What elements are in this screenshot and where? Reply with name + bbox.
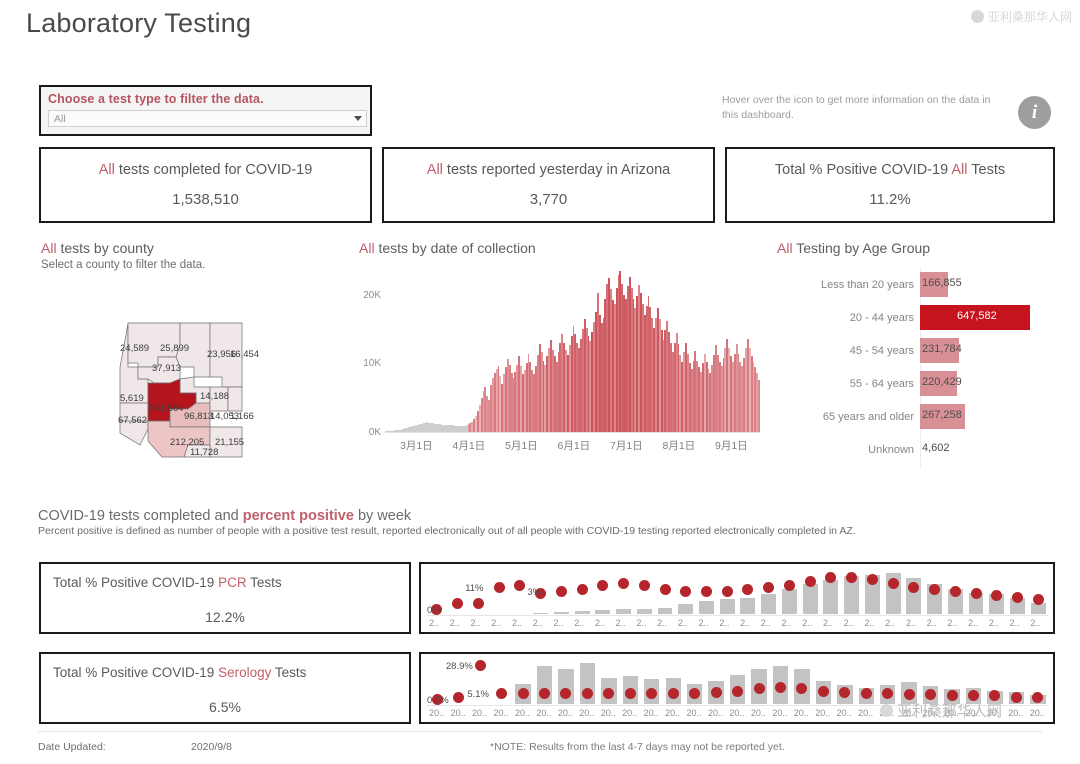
date-title-accent: All bbox=[359, 240, 375, 256]
weekly-percent-dot bbox=[742, 584, 753, 595]
weekly-percent-dot bbox=[556, 586, 567, 597]
weekly-column[interactable] bbox=[494, 654, 509, 704]
age-title-accent: All bbox=[777, 240, 793, 256]
kpi-card-total-tests: All tests completed for COVID-19 1,538,5… bbox=[39, 147, 372, 223]
weekly-dot-label: 28.9% bbox=[446, 661, 473, 672]
age-group-value: 166,855 bbox=[922, 277, 962, 289]
weekly-xtick: 20.. bbox=[1008, 708, 1023, 718]
weekly-column[interactable] bbox=[595, 564, 610, 614]
age-group-bar-wrap: 267,258 bbox=[920, 400, 1067, 433]
weekly-column[interactable] bbox=[859, 654, 874, 704]
weekly-xtick: 2.. bbox=[740, 618, 750, 628]
weekly-column[interactable] bbox=[740, 564, 755, 614]
weekly-column[interactable] bbox=[989, 564, 1004, 614]
weekly-percent-dot bbox=[597, 580, 608, 591]
weekly-percent-dot bbox=[861, 688, 872, 699]
weekly-bar bbox=[678, 604, 693, 614]
date-chart-xtick: 3月1日 bbox=[400, 438, 433, 453]
kpi-rest: tests completed for COVID-19 bbox=[115, 162, 312, 178]
kpi-label: Total % Positive COVID-19 All Tests bbox=[775, 162, 1005, 178]
age-group-value: 4,602 bbox=[922, 442, 950, 454]
pcr-weekly-x-axis: 2..2..2..2..2..2..2..2..2..2..2..2..2..2… bbox=[427, 615, 1049, 631]
tests-by-date-chart: 0K10K20K 3月1日4月1日5月1日6月1日7月1日8月1日9月1日 bbox=[345, 268, 760, 458]
weekly-percent-dot bbox=[929, 584, 940, 595]
weekly-bar bbox=[533, 613, 548, 614]
watermark-bottom: 亚利桑那华人网 bbox=[880, 700, 1002, 721]
kpi-value: 11.2% bbox=[869, 191, 910, 208]
weekly-percent-dot bbox=[660, 584, 671, 595]
weekly-xtick: 20.. bbox=[708, 708, 723, 718]
pcr-weekly-plot: 0%11%3% bbox=[427, 566, 1049, 614]
weekly-column[interactable] bbox=[927, 564, 942, 614]
weekly-column[interactable] bbox=[948, 564, 963, 614]
weekly-column[interactable] bbox=[906, 564, 921, 614]
weekly-bar bbox=[740, 598, 755, 614]
weekly-column[interactable] bbox=[773, 654, 788, 704]
weekly-xtick: 20.. bbox=[515, 708, 530, 718]
weekly-percent-dot bbox=[904, 689, 915, 700]
age-group-label: 45 - 54 years bbox=[777, 345, 920, 357]
weekly-column[interactable] bbox=[803, 564, 818, 614]
weekly-xtick: 2.. bbox=[429, 618, 439, 628]
weekly-xtick: 2.. bbox=[802, 618, 812, 628]
weekly-percent-dot bbox=[1012, 592, 1023, 603]
map-panel-title: All tests by county bbox=[41, 240, 154, 256]
weekly-column[interactable] bbox=[880, 654, 895, 704]
weekly-bar bbox=[616, 609, 631, 614]
weekly-xtick: 2.. bbox=[1030, 618, 1040, 628]
serology-card-value: 6.5% bbox=[41, 699, 409, 715]
weekly-column[interactable] bbox=[558, 654, 573, 704]
watermark-top: 亚利桑那华人网 bbox=[971, 8, 1072, 25]
date-chart-ytick: 0K bbox=[369, 427, 381, 438]
watermark-logo-icon bbox=[880, 704, 893, 717]
weekly-column[interactable] bbox=[1010, 564, 1025, 614]
pcr-label-accent: PCR bbox=[218, 575, 247, 590]
weekly-percent-dot bbox=[473, 598, 484, 609]
weekly-bar bbox=[554, 612, 569, 614]
weekly-percent-dot bbox=[701, 586, 712, 597]
age-group-bar-wrap: 220,429 bbox=[920, 367, 1067, 400]
date-chart-ytick: 10K bbox=[363, 358, 381, 369]
weekly-column[interactable] bbox=[623, 654, 638, 704]
weekly-column[interactable] bbox=[580, 654, 595, 704]
weekly-column[interactable] bbox=[1031, 564, 1046, 614]
weekly-column[interactable] bbox=[816, 654, 831, 704]
weekly-column[interactable] bbox=[699, 564, 714, 614]
county-label-santa-cruz: 11,728 bbox=[190, 447, 218, 458]
pcr-label-pre: Total % Positive COVID-19 bbox=[53, 575, 218, 590]
weekly-column[interactable] bbox=[969, 564, 984, 614]
weekly-xtick: 20.. bbox=[772, 708, 787, 718]
page-title: Laboratory Testing bbox=[26, 8, 251, 39]
weekly-column[interactable] bbox=[616, 564, 631, 614]
serology-card-label: Total % Positive COVID-19 Serology Tests bbox=[53, 665, 306, 680]
kpi-value: 3,770 bbox=[530, 191, 568, 208]
weekly-section-heading: COVID-19 tests completed and percent pos… bbox=[38, 508, 411, 524]
hover-hint-text: Hover over the icon to get more informat… bbox=[722, 93, 1007, 123]
weekly-column[interactable] bbox=[575, 564, 590, 614]
weekly-column[interactable] bbox=[637, 564, 652, 614]
weekly-column[interactable] bbox=[865, 564, 880, 614]
weekly-percent-dot bbox=[867, 574, 878, 585]
weekly-xtick: 20.. bbox=[601, 708, 616, 718]
kpi-card-percent-positive: Total % Positive COVID-19 All Tests 11.2… bbox=[725, 147, 1055, 223]
weekly-bar bbox=[761, 594, 776, 614]
pcr-weekly-chart: 0%11%3% 2..2..2..2..2..2..2..2..2..2..2.… bbox=[419, 562, 1055, 634]
weekly-xtick: 2.. bbox=[989, 618, 999, 628]
age-group-label: Unknown bbox=[777, 444, 920, 456]
weekly-xtick: 20.. bbox=[451, 708, 466, 718]
weekly-bar bbox=[720, 599, 735, 614]
map-title-accent: All bbox=[41, 240, 57, 256]
weekly-dot-label: 3% bbox=[527, 587, 541, 598]
weekly-column[interactable] bbox=[966, 654, 981, 704]
weekly-xtick: 20.. bbox=[1030, 708, 1045, 718]
county-label-la-paz: 5,619 bbox=[120, 393, 144, 404]
weekly-percent-dot bbox=[971, 588, 982, 599]
weekly-xtick: 2.. bbox=[864, 618, 874, 628]
weekly-xtick: 2.. bbox=[761, 618, 771, 628]
weekly-xtick: 2.. bbox=[906, 618, 916, 628]
date-chart-plot bbox=[385, 268, 760, 433]
weekly-bar bbox=[595, 610, 610, 614]
weekly-xtick: 2.. bbox=[491, 618, 501, 628]
weekly-bar bbox=[699, 601, 714, 614]
weekly-dot-label: 5.1% bbox=[467, 689, 489, 700]
weekly-xtick: 20.. bbox=[472, 708, 487, 718]
weekly-xtick: 2.. bbox=[968, 618, 978, 628]
weekly-column[interactable] bbox=[512, 564, 527, 614]
age-group-value: 647,582 bbox=[957, 310, 997, 322]
weekly-percent-dot bbox=[784, 580, 795, 591]
serology-label-rest: Tests bbox=[271, 665, 306, 680]
serology-percent-positive-card: Total % Positive COVID-19 Serology Tests… bbox=[39, 652, 411, 724]
weekly-xtick: 20.. bbox=[687, 708, 702, 718]
test-type-selected-value: All bbox=[54, 113, 66, 125]
weekly-column[interactable] bbox=[720, 564, 735, 614]
county-label-yavapai: 37,913 bbox=[152, 363, 181, 374]
date-chart-xtick: 5月1日 bbox=[505, 438, 538, 453]
weekly-percent-dot bbox=[494, 582, 505, 593]
dashboard-page: Laboratory Testing 亚利桑那华人网 Choose a test… bbox=[0, 0, 1080, 764]
weekly-percent-dot bbox=[818, 686, 829, 697]
date-chart-y-axis: 0K10K20K bbox=[345, 268, 385, 433]
kpi-accent: All bbox=[427, 162, 443, 178]
age-title-rest: Testing by Age Group bbox=[793, 240, 931, 256]
weekly-xtick: 2.. bbox=[719, 618, 729, 628]
footer-note: *NOTE: Results from the last 4-7 days ma… bbox=[490, 741, 785, 753]
footer-date-label: Date Updated: bbox=[38, 741, 106, 753]
map-panel-subtitle: Select a county to filter the data. bbox=[41, 259, 205, 271]
weekly-percent-dot bbox=[452, 598, 463, 609]
age-group-row[interactable]: Unknown4,602 bbox=[777, 433, 1067, 466]
weekly-xtick: 2.. bbox=[927, 618, 937, 628]
weekly-percent-dot bbox=[475, 660, 486, 671]
arizona-county-map[interactable]: 24,58925,89923,95616,45437,9135,61914,18… bbox=[118, 305, 268, 465]
kpi-label: All tests completed for COVID-19 bbox=[99, 162, 313, 178]
weekly-percent-dot bbox=[754, 683, 765, 694]
kpi-value: 1,538,510 bbox=[172, 191, 239, 208]
weekly-xtick: 2.. bbox=[512, 618, 522, 628]
weekly-xtick: 20.. bbox=[751, 708, 766, 718]
weekly-xtick: 2.. bbox=[699, 618, 709, 628]
weekly-percent-dot bbox=[496, 688, 507, 699]
weekly-column[interactable] bbox=[923, 654, 938, 704]
weekly-bar bbox=[823, 580, 838, 614]
weekly-column[interactable] bbox=[844, 564, 859, 614]
weekly-column[interactable] bbox=[678, 564, 693, 614]
county-label-apache: 16,454 bbox=[230, 349, 259, 360]
weekly-xtick: 20.. bbox=[837, 708, 852, 718]
weekly-column[interactable] bbox=[987, 654, 1002, 704]
weekly-xtick: 2.. bbox=[678, 618, 688, 628]
weekly-heading-accent: percent positive bbox=[243, 508, 354, 524]
weekly-bar bbox=[575, 611, 590, 614]
serology-weekly-plot: 0.0%28.9%5.1% bbox=[427, 656, 1049, 704]
weekly-xtick: 2.. bbox=[782, 618, 792, 628]
age-group-row[interactable]: 55 - 64 years220,429 bbox=[777, 367, 1067, 400]
weekly-xtick: 20.. bbox=[644, 708, 659, 718]
weekly-percent-dot bbox=[711, 687, 722, 698]
info-icon[interactable]: i bbox=[1018, 96, 1051, 129]
weekly-dot-label: 11% bbox=[465, 583, 483, 594]
weekly-xtick: 2.. bbox=[636, 618, 646, 628]
kpi-rest: tests reported yesterday in Arizona bbox=[443, 162, 670, 178]
weekly-bar bbox=[803, 584, 818, 614]
kpi-rest: Tests bbox=[968, 162, 1006, 178]
weekly-percent-dot bbox=[1033, 594, 1044, 605]
weekly-bar bbox=[637, 609, 652, 614]
weekly-section-subtitle: Percent positive is defined as number of… bbox=[38, 525, 856, 537]
age-group-bar-wrap: 231,784 bbox=[920, 334, 1067, 367]
weekly-xtick: 2.. bbox=[450, 618, 460, 628]
weekly-xtick: 20.. bbox=[536, 708, 551, 718]
weekly-xtick: 2.. bbox=[533, 618, 543, 628]
kpi-card-reported-yesterday: All tests reported yesterday in Arizona … bbox=[382, 147, 715, 223]
kpi-pre: Total % Positive COVID-19 bbox=[775, 162, 952, 178]
weekly-column[interactable] bbox=[687, 654, 702, 704]
weekly-xtick: 20.. bbox=[493, 708, 508, 718]
weekly-heading-pre: COVID-19 tests completed bbox=[38, 508, 215, 524]
weekly-xtick: 2.. bbox=[823, 618, 833, 628]
footer-divider bbox=[38, 731, 1042, 732]
age-group-label: 65 years and older bbox=[777, 411, 920, 423]
weekly-percent-dot bbox=[518, 688, 529, 699]
age-group-value: 267,258 bbox=[922, 409, 962, 421]
age-group-label: 20 - 44 years bbox=[777, 312, 920, 324]
watermark-logo-icon bbox=[971, 10, 984, 23]
kpi-accent: All bbox=[99, 162, 115, 178]
weekly-percent-dot bbox=[722, 586, 733, 597]
age-group-row[interactable]: 45 - 54 years231,784 bbox=[777, 334, 1067, 367]
weekly-xtick: 2.. bbox=[657, 618, 667, 628]
testing-by-age-chart: Less than 20 years166,85520 - 44 years64… bbox=[777, 268, 1067, 468]
age-group-bar-wrap: 4,602 bbox=[920, 433, 1067, 466]
date-chart-xtick: 6月1日 bbox=[558, 438, 591, 453]
weekly-xtick: 2.. bbox=[471, 618, 481, 628]
weekly-bar bbox=[658, 608, 673, 614]
county-label-cochise: 21,155 bbox=[215, 437, 244, 448]
weekly-percent-dot bbox=[805, 576, 816, 587]
date-chart-bar bbox=[758, 380, 760, 432]
weekly-column[interactable] bbox=[794, 654, 809, 704]
weekly-xtick: 20.. bbox=[429, 708, 444, 718]
weekly-xtick: 2.. bbox=[844, 618, 854, 628]
date-chart-title: All tests by date of collection bbox=[359, 240, 536, 256]
weekly-xtick: 20.. bbox=[729, 708, 744, 718]
filter-label: Choose a test type to filter the data. bbox=[48, 92, 363, 106]
weekly-xtick: 2.. bbox=[947, 618, 957, 628]
age-group-bar-wrap: 647,582 bbox=[920, 301, 1067, 334]
age-group-row[interactable]: 20 - 44 years647,582 bbox=[777, 301, 1067, 334]
weekly-heading-and: and bbox=[215, 508, 243, 524]
county-label-gila: 14,188 bbox=[200, 391, 229, 402]
weekly-heading-rest: by week bbox=[354, 508, 411, 524]
weekly-xtick: 2.. bbox=[553, 618, 563, 628]
age-chart-title: All Testing by Age Group bbox=[777, 240, 930, 256]
date-chart-xtick: 9月1日 bbox=[715, 438, 748, 453]
weekly-percent-dot bbox=[668, 688, 679, 699]
weekly-percent-dot bbox=[577, 584, 588, 595]
weekly-percent-dot bbox=[582, 688, 593, 699]
pcr-percent-positive-card: Total % Positive COVID-19 PCR Tests 12.2… bbox=[39, 562, 411, 634]
age-group-label: 55 - 64 years bbox=[777, 378, 920, 390]
watermark-bottom-text: 亚利桑那华人网 bbox=[897, 700, 1002, 721]
date-chart-xtick: 4月1日 bbox=[453, 438, 486, 453]
weekly-column[interactable] bbox=[730, 654, 745, 704]
weekly-column[interactable] bbox=[666, 654, 681, 704]
weekly-percent-dot bbox=[763, 582, 774, 593]
weekly-percent-dot bbox=[732, 686, 743, 697]
county-label-maricopa: 941,564 bbox=[149, 403, 183, 414]
weekly-column[interactable] bbox=[944, 654, 959, 704]
weekly-xtick: 2.. bbox=[595, 618, 605, 628]
weekly-xtick: 2.. bbox=[885, 618, 895, 628]
weekly-percent-dot bbox=[888, 578, 899, 589]
weekly-xtick: 20.. bbox=[579, 708, 594, 718]
weekly-percent-dot bbox=[1011, 692, 1022, 703]
weekly-column[interactable] bbox=[708, 654, 723, 704]
weekly-percent-dot bbox=[618, 578, 629, 589]
weekly-xtick: 20.. bbox=[815, 708, 830, 718]
weekly-xtick: 20.. bbox=[622, 708, 637, 718]
weekly-column[interactable] bbox=[492, 564, 507, 614]
age-group-label: Less than 20 years bbox=[777, 279, 920, 291]
county-label-greenlee: 1,166 bbox=[230, 411, 254, 422]
age-group-value: 220,429 bbox=[922, 376, 962, 388]
weekly-percent-dot bbox=[514, 580, 525, 591]
chevron-down-icon[interactable] bbox=[354, 116, 362, 121]
weekly-column[interactable] bbox=[450, 564, 465, 614]
weekly-column[interactable] bbox=[658, 564, 673, 614]
weekly-column[interactable] bbox=[644, 654, 659, 704]
kpi-label: All tests reported yesterday in Arizona bbox=[427, 162, 670, 178]
county-label-yuma: 67,562 bbox=[118, 415, 147, 426]
weekly-column[interactable] bbox=[837, 654, 852, 704]
county-label-mohave: 24,589 bbox=[120, 343, 149, 354]
weekly-column[interactable] bbox=[537, 654, 552, 704]
age-group-bar-wrap: 166,855 bbox=[920, 268, 1067, 301]
weekly-percent-dot bbox=[453, 692, 464, 703]
weekly-column[interactable] bbox=[1030, 654, 1045, 704]
date-chart-ytick: 20K bbox=[363, 290, 381, 301]
pcr-label-rest: Tests bbox=[247, 575, 282, 590]
age-group-row[interactable]: Less than 20 years166,855 bbox=[777, 268, 1067, 301]
watermark-top-text: 亚利桑那华人网 bbox=[988, 8, 1072, 25]
weekly-column[interactable] bbox=[761, 564, 776, 614]
weekly-xtick: 2.. bbox=[1010, 618, 1020, 628]
footer-date-value: 2020/9/8 bbox=[191, 741, 232, 753]
weekly-column[interactable] bbox=[554, 564, 569, 614]
weekly-bar bbox=[782, 589, 797, 614]
date-chart-xtick: 7月1日 bbox=[610, 438, 643, 453]
weekly-column[interactable] bbox=[601, 654, 616, 704]
weekly-column[interactable] bbox=[823, 564, 838, 614]
weekly-column[interactable] bbox=[901, 654, 916, 704]
weekly-xtick: 2.. bbox=[574, 618, 584, 628]
map-title-rest: tests by county bbox=[57, 240, 154, 256]
pcr-card-value: 12.2% bbox=[41, 609, 409, 625]
test-type-filter[interactable]: Choose a test type to filter the data. A… bbox=[39, 85, 372, 136]
pcr-card-label: Total % Positive COVID-19 PCR Tests bbox=[53, 575, 282, 590]
county-label-pinal: 96,813 bbox=[184, 411, 213, 422]
age-group-row[interactable]: 65 years and older267,258 bbox=[777, 400, 1067, 433]
weekly-column[interactable] bbox=[1009, 654, 1024, 704]
weekly-xtick: 20.. bbox=[858, 708, 873, 718]
serology-label-accent: Serology bbox=[218, 665, 271, 680]
weekly-percent-dot bbox=[1032, 692, 1043, 703]
weekly-xtick: 20.. bbox=[558, 708, 573, 718]
serology-label-pre: Total % Positive COVID-19 bbox=[53, 665, 218, 680]
kpi-accent: All bbox=[951, 162, 967, 178]
weekly-percent-dot bbox=[639, 580, 650, 591]
weekly-percent-dot bbox=[625, 688, 636, 699]
weekly-xtick: 2.. bbox=[616, 618, 626, 628]
weekly-column[interactable] bbox=[782, 564, 797, 614]
age-group-value: 231,784 bbox=[922, 343, 962, 355]
test-type-select[interactable]: All bbox=[48, 110, 367, 127]
weekly-column[interactable] bbox=[886, 564, 901, 614]
weekly-xtick: 20.. bbox=[794, 708, 809, 718]
weekly-column[interactable] bbox=[515, 654, 530, 704]
county-label-coconino: 25,899 bbox=[160, 343, 189, 354]
weekly-percent-dot bbox=[950, 586, 961, 597]
weekly-percent-dot bbox=[680, 586, 691, 597]
weekly-xtick: 20.. bbox=[665, 708, 680, 718]
date-title-rest: tests by date of collection bbox=[375, 240, 536, 256]
date-chart-xtick: 8月1日 bbox=[663, 438, 696, 453]
weekly-column[interactable] bbox=[751, 654, 766, 704]
county-shape-greenlee bbox=[228, 387, 242, 411]
